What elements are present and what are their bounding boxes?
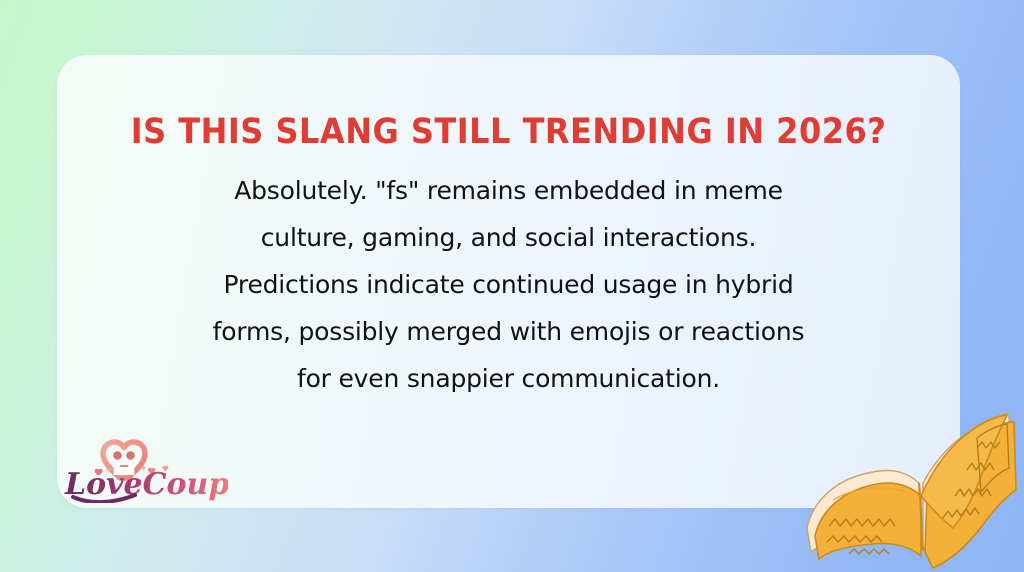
- logo[interactable]: LoveCouplez: [63, 437, 228, 503]
- page-title: IS THIS SLANG STILL TRENDING IN 2026?: [105, 105, 912, 159]
- body-line: Predictions indicate continued usage in …: [117, 261, 900, 308]
- logo-wordmark: LoveCouplez: [64, 467, 228, 502]
- body-paragraph: Absolutely. "fs" remains embedded in mem…: [105, 155, 912, 402]
- body-line: Absolutely. "fs" remains embedded in mem…: [117, 167, 900, 214]
- open-book-icon: [807, 414, 1016, 568]
- infographic-canvas: IS THIS SLANG STILL TRENDING IN 2026? Ab…: [0, 0, 1024, 572]
- body-line: forms, possibly merged with emojis or re…: [117, 308, 900, 355]
- body-line: for even snappier communication.: [117, 355, 900, 402]
- open-book-illustration: [795, 350, 1024, 572]
- body-line: culture, gaming, and social interactions…: [117, 214, 900, 261]
